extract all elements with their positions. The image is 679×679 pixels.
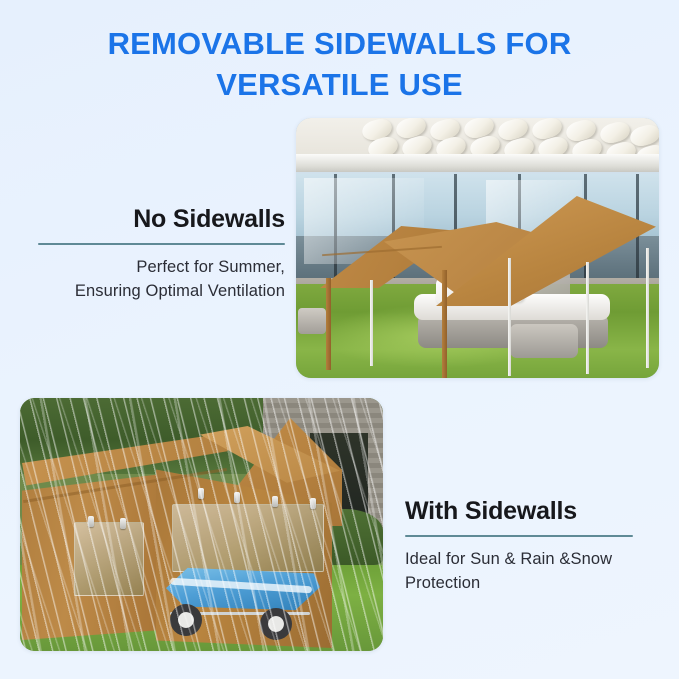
- side-table: [510, 324, 578, 358]
- sidewall-clip: [120, 518, 126, 529]
- section-divider: [405, 535, 633, 537]
- sidewall-clip: [88, 516, 94, 527]
- photo-with-sidewalls: [20, 398, 383, 651]
- section-divider: [38, 243, 285, 245]
- section-subtitle-no-sidewalls: Perfect for Summer, Ensuring Optimal Ven…: [38, 256, 285, 304]
- canopy-leg: [646, 248, 649, 368]
- canopy-leg: [370, 280, 373, 366]
- trailer-wheel: [170, 604, 202, 636]
- text-block-with-sidewalls: With Sidewalls Ideal for Sun & Rain &Sno…: [405, 497, 633, 596]
- subtitle-line-1: Ideal for Sun & Rain &Snow: [405, 548, 633, 572]
- canopy-leg: [586, 262, 589, 374]
- canopy-leg: [326, 278, 331, 370]
- roof-fascia: [296, 154, 659, 172]
- section-title-with-sidewalls: With Sidewalls: [405, 497, 633, 526]
- sidewall-clip: [234, 492, 240, 503]
- promo-banner: REMOVABLE SIDEWALLS FOR VERSATILE USE: [0, 0, 679, 679]
- sidewall-clip: [272, 496, 278, 507]
- text-block-no-sidewalls: No Sidewalls Perfect for Summer, Ensurin…: [38, 205, 285, 304]
- subtitle-line-1: Perfect for Summer,: [38, 256, 285, 280]
- planter: [298, 308, 326, 334]
- sidewall-window: [74, 522, 144, 596]
- canopy-leg: [508, 258, 511, 376]
- section-title-no-sidewalls: No Sidewalls: [38, 205, 285, 234]
- subtitle-line-2: Ensuring Optimal Ventilation: [38, 280, 285, 304]
- subtitle-line-2: Protection: [405, 572, 633, 596]
- sidewall-clip: [310, 498, 316, 509]
- sidewall-clip: [198, 488, 204, 499]
- photo-no-sidewalls: [296, 118, 659, 378]
- section-subtitle-with-sidewalls: Ideal for Sun & Rain &Snow Protection: [405, 548, 633, 596]
- page-title-line-1: REMOVABLE SIDEWALLS FOR: [108, 26, 572, 61]
- sidewall-window: [172, 504, 324, 572]
- page-title-line-2: VERSATILE USE: [0, 65, 679, 106]
- trailer-wheel: [260, 608, 292, 640]
- page-title: REMOVABLE SIDEWALLS FOR VERSATILE USE: [0, 24, 679, 106]
- canopy-leg: [442, 270, 447, 378]
